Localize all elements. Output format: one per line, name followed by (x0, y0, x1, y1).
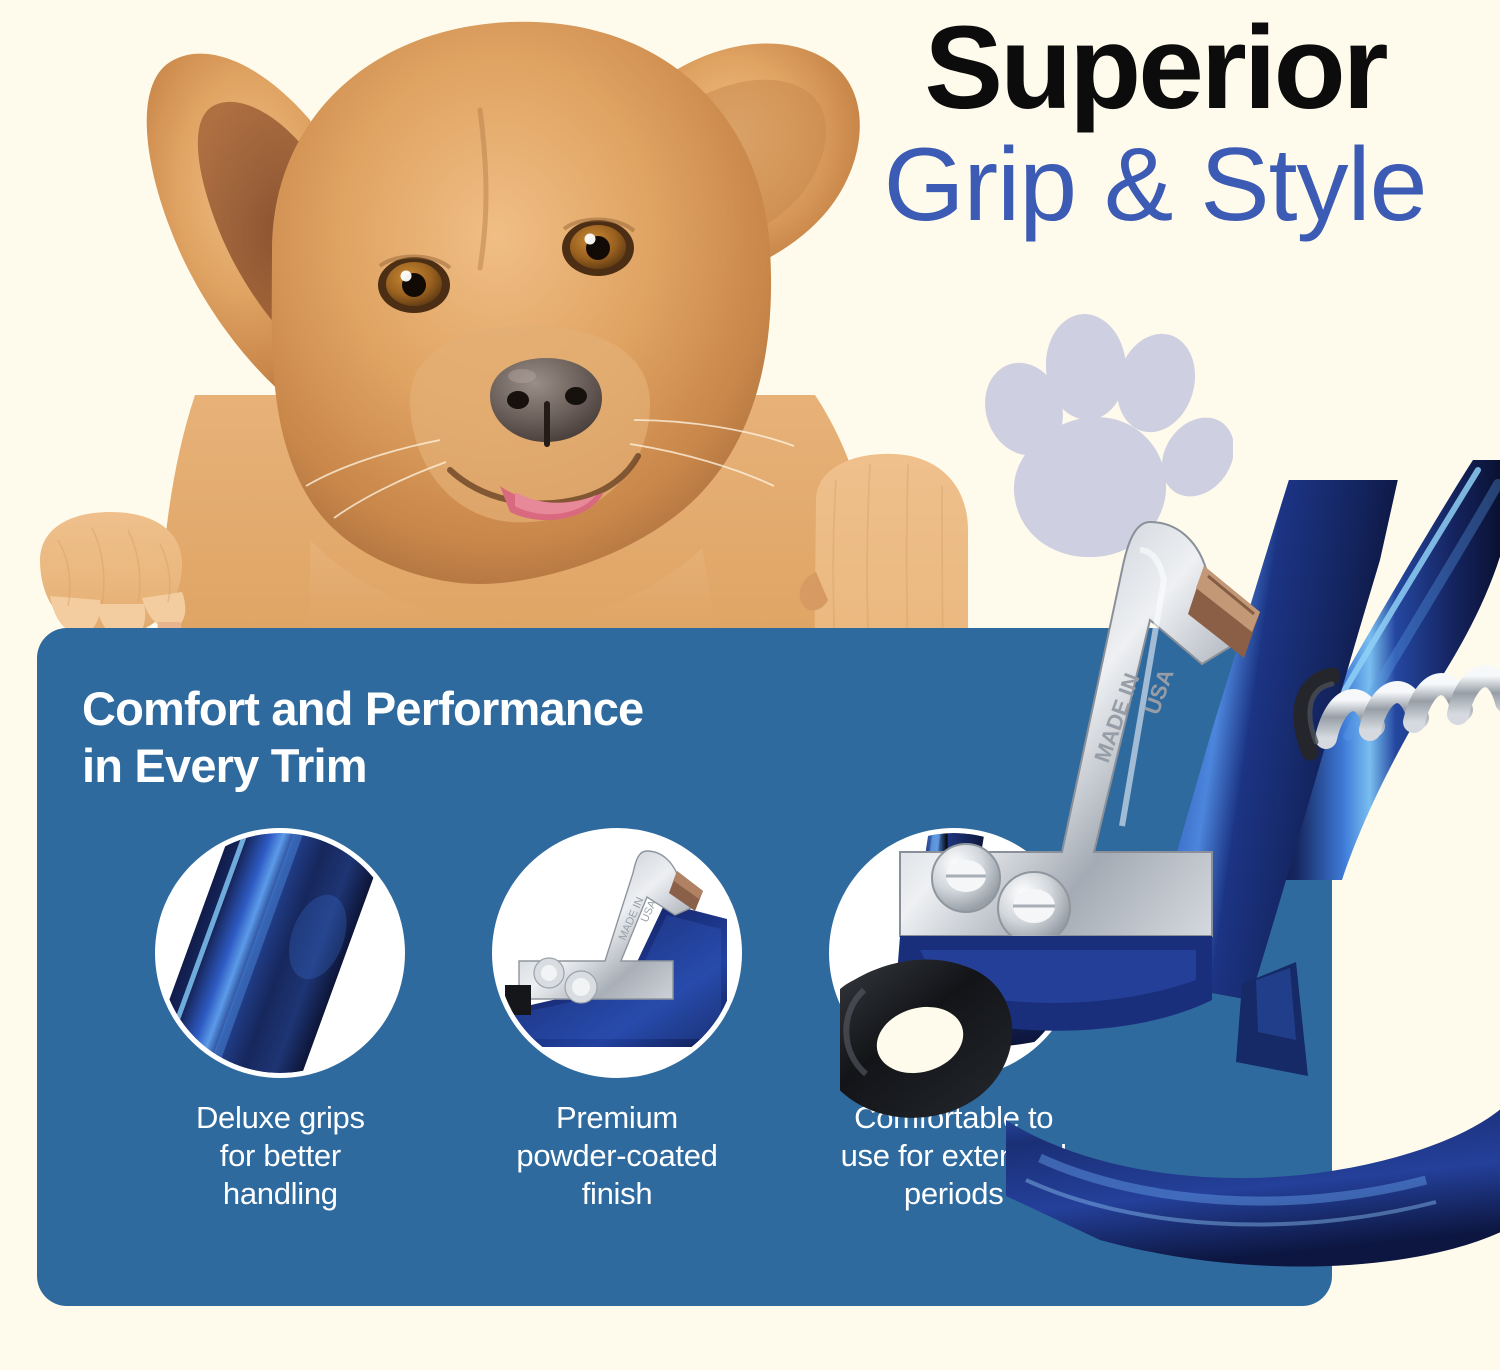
marketing-image: Superior Grip & Style Comfort and Perfor… (0, 0, 1500, 1370)
caption-line: powder-coated (482, 1137, 752, 1175)
feature-card: Comfort and Performance in Every Trim (37, 628, 1332, 1306)
card-heading-line1: Comfort and Performance (82, 680, 862, 737)
headline-block: Superior Grip & Style (820, 8, 1490, 238)
feature-item: USA (785, 833, 1122, 1212)
caption-line: handling (145, 1175, 415, 1213)
caption-line: periods (819, 1175, 1089, 1213)
feature-caption: Premium powder-coated finish (482, 1099, 752, 1212)
feature-item: MADE IN USA Premium powder-coated finish (449, 833, 786, 1212)
caption-line: Deluxe grips (145, 1099, 415, 1137)
card-heading: Comfort and Performance in Every Trim (82, 680, 862, 795)
card-heading-line2: in Every Trim (82, 737, 862, 794)
caption-line: use for extended (819, 1137, 1089, 1175)
clipper-open-spring-closeup: USA (834, 833, 1074, 1073)
caption-line: Comfortable to (819, 1099, 1089, 1137)
headline-primary: Superior (820, 8, 1490, 128)
feature-caption: Comfortable to use for extended periods (819, 1099, 1089, 1212)
feature-list: Deluxe grips for better handling (112, 833, 1122, 1212)
clipper-head-closeup: MADE IN USA (497, 833, 737, 1073)
feature-caption: Deluxe grips for better handling (145, 1099, 415, 1212)
caption-line: Premium (482, 1099, 752, 1137)
feature-item: Deluxe grips for better handling (112, 833, 449, 1212)
caption-line: for better (145, 1137, 415, 1175)
headline-secondary: Grip & Style (820, 128, 1490, 238)
clipper-grip-closeup (160, 833, 400, 1073)
paw-print-icon (958, 305, 1233, 570)
caption-line: finish (482, 1175, 752, 1213)
